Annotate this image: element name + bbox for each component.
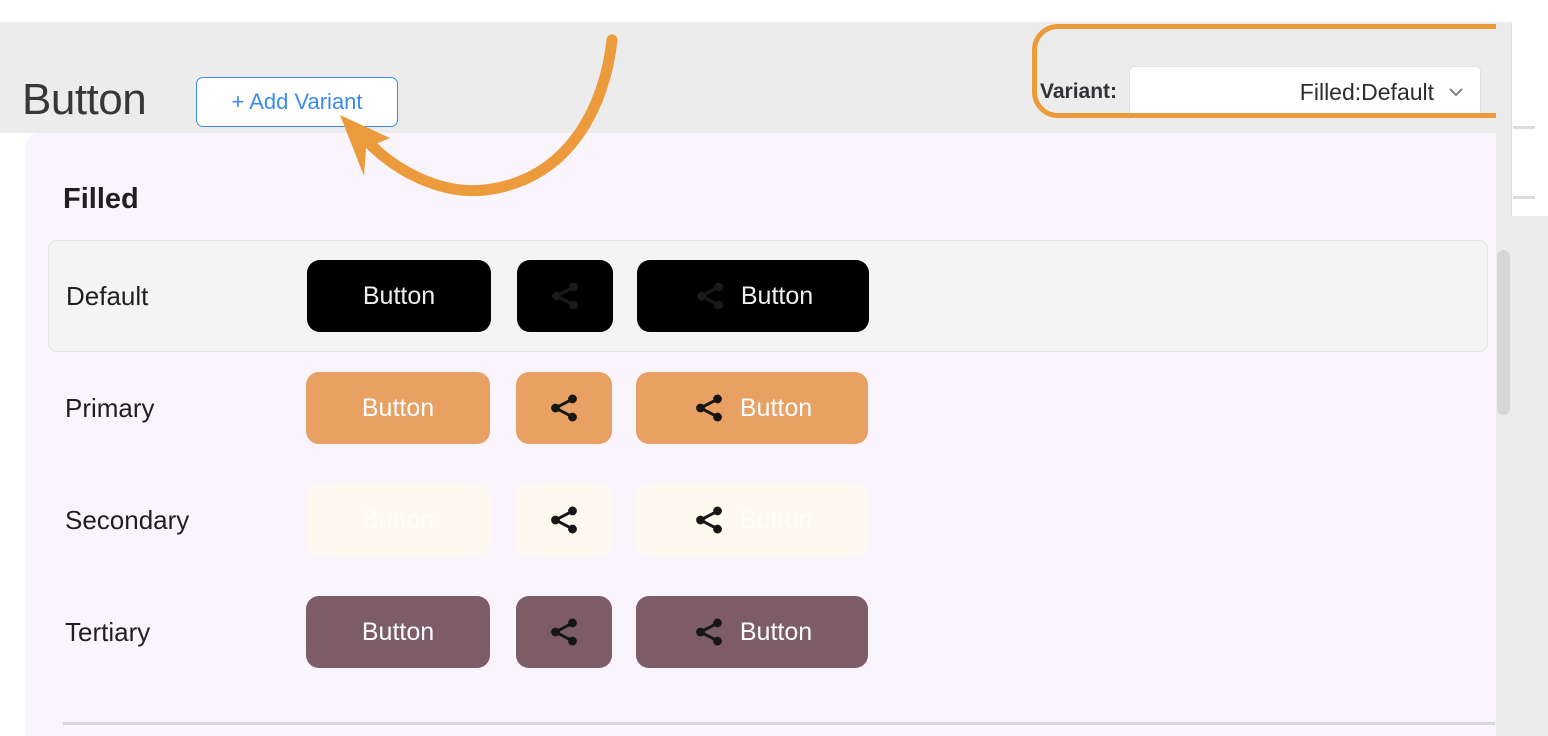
share-icon xyxy=(692,503,726,537)
demo-button-primary-icon-label[interactable]: Button xyxy=(636,372,868,444)
row-button-group: ButtonButton xyxy=(306,596,868,668)
page-title: Button xyxy=(22,74,146,126)
share-icon xyxy=(692,615,726,649)
variant-selector-group: Variant: Filled:Default xyxy=(1040,66,1481,118)
add-variant-button[interactable]: + Add Variant xyxy=(196,77,398,127)
demo-button-label: Button xyxy=(740,618,812,647)
share-icon xyxy=(547,615,581,649)
demo-button-label: Button xyxy=(740,394,812,423)
demo-button-default-icon-only[interactable] xyxy=(517,260,613,332)
variant-preview-card: Filled DefaultButtonButtonPrimaryButtonB… xyxy=(25,133,1510,736)
demo-button-default-label-only[interactable]: Button xyxy=(307,260,491,332)
variant-select-value: Filled:Default xyxy=(1300,79,1434,106)
header-bar: Button + Add Variant Variant: Filled:Def… xyxy=(0,22,1536,133)
section-title: Filled xyxy=(63,183,139,216)
variant-row-tertiary[interactable]: TertiaryButtonButton xyxy=(48,576,1488,688)
demo-button-default-icon-label[interactable]: Button xyxy=(637,260,869,332)
side-panel-separator xyxy=(1513,126,1535,129)
share-icon xyxy=(547,391,581,425)
chevron-down-icon xyxy=(1446,82,1466,102)
demo-button-primary-icon-only[interactable] xyxy=(516,372,612,444)
app-root: Button + Add Variant Variant: Filled:Def… xyxy=(0,0,1548,736)
variant-label: Variant: xyxy=(1040,80,1117,104)
demo-button-label: Button xyxy=(740,506,812,535)
row-label: Tertiary xyxy=(65,617,150,648)
demo-button-tertiary-icon-only[interactable] xyxy=(516,596,612,668)
share-icon xyxy=(693,279,727,313)
demo-button-label: Button xyxy=(362,618,434,647)
row-label: Default xyxy=(66,281,148,312)
variant-row-default[interactable]: DefaultButtonButton xyxy=(48,240,1488,352)
demo-button-secondary-icon-only[interactable] xyxy=(516,484,612,556)
variant-row-secondary[interactable]: SecondaryButtonButton xyxy=(48,464,1488,576)
top-white-strip xyxy=(0,0,1548,22)
demo-button-tertiary-label-only[interactable]: Button xyxy=(306,596,490,668)
demo-button-secondary-icon-label[interactable]: Button xyxy=(636,484,868,556)
variant-row-primary[interactable]: PrimaryButtonButton xyxy=(48,352,1488,464)
row-label: Primary xyxy=(65,393,155,424)
side-panel-separator xyxy=(1513,196,1535,199)
demo-button-label: Button xyxy=(362,506,434,535)
share-icon xyxy=(548,279,582,313)
row-button-group: ButtonButton xyxy=(307,260,869,332)
demo-button-label: Button xyxy=(363,282,435,311)
row-label: Secondary xyxy=(65,505,189,536)
demo-button-label: Button xyxy=(741,282,813,311)
demo-button-secondary-label-only[interactable]: Button xyxy=(306,484,490,556)
row-button-group: ButtonButton xyxy=(306,484,868,556)
bottom-divider xyxy=(63,722,1495,725)
side-panel-block xyxy=(1511,216,1548,736)
demo-button-tertiary-icon-label[interactable]: Button xyxy=(636,596,868,668)
share-icon xyxy=(692,391,726,425)
row-button-group: ButtonButton xyxy=(306,372,868,444)
demo-button-primary-label-only[interactable]: Button xyxy=(306,372,490,444)
vertical-scrollbar-thumb[interactable] xyxy=(1497,250,1510,415)
share-icon xyxy=(547,503,581,537)
demo-button-label: Button xyxy=(362,394,434,423)
variant-select[interactable]: Filled:Default xyxy=(1129,66,1481,118)
